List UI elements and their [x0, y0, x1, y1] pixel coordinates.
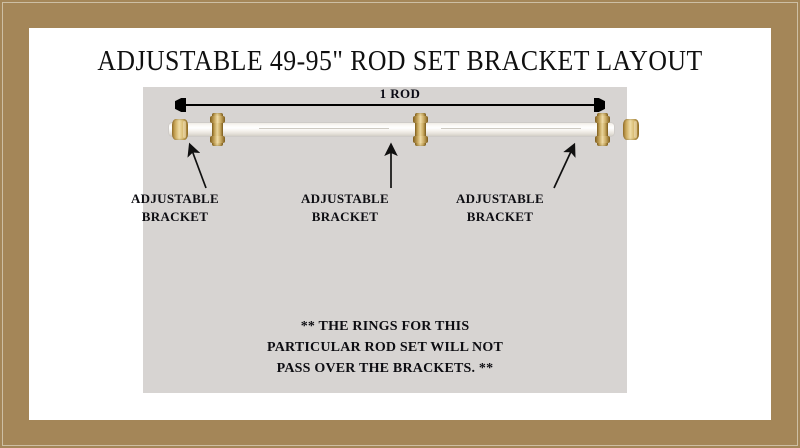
- bracket-left-collar-top: [210, 116, 225, 123]
- bracket-left: [212, 113, 223, 146]
- callout-right-line2: BRACKET: [420, 208, 580, 226]
- page-title: ADJUSTABLE 49-95" ROD SET BRACKET LAYOUT: [59, 46, 742, 78]
- callout-right-line1: ADJUSTABLE: [420, 190, 580, 208]
- footnote-line1: ** THE RINGS FOR THIS: [170, 316, 600, 337]
- framed-diagram: ADJUSTABLE 49-95" ROD SET BRACKET LAYOUT…: [0, 0, 800, 448]
- bracket-right: [597, 113, 608, 146]
- callout-left-line2: BRACKET: [95, 208, 255, 226]
- right-finial: [623, 119, 639, 140]
- bracket-right-collar-bottom: [595, 136, 610, 143]
- curtain-rod-assembly: [141, 108, 641, 154]
- rod-seam-right: [441, 128, 581, 129]
- footnote-note: ** THE RINGS FOR THIS PARTICULAR ROD SET…: [170, 316, 600, 379]
- callout-label-center: ADJUSTABLE BRACKET: [265, 190, 425, 227]
- left-finial: [172, 119, 188, 140]
- callout-center-line1: ADJUSTABLE: [265, 190, 425, 208]
- bracket-center: [415, 113, 426, 146]
- rod-seam-left: [259, 128, 389, 129]
- bracket-right-collar-top: [595, 116, 610, 123]
- callout-label-left: ADJUSTABLE BRACKET: [95, 190, 255, 227]
- rod-tube: [169, 123, 614, 136]
- callout-label-right: ADJUSTABLE BRACKET: [420, 190, 580, 227]
- callout-left-line1: ADJUSTABLE: [95, 190, 255, 208]
- bracket-center-collar-top: [413, 116, 428, 123]
- footnote-line3: PASS OVER THE BRACKETS. **: [170, 358, 600, 379]
- diagram-canvas: ADJUSTABLE 49-95" ROD SET BRACKET LAYOUT…: [29, 28, 771, 420]
- callout-center-line2: BRACKET: [265, 208, 425, 226]
- bracket-center-collar-bottom: [413, 136, 428, 143]
- footnote-line2: PARTICULAR ROD SET WILL NOT: [170, 337, 600, 358]
- bracket-left-collar-bottom: [210, 136, 225, 143]
